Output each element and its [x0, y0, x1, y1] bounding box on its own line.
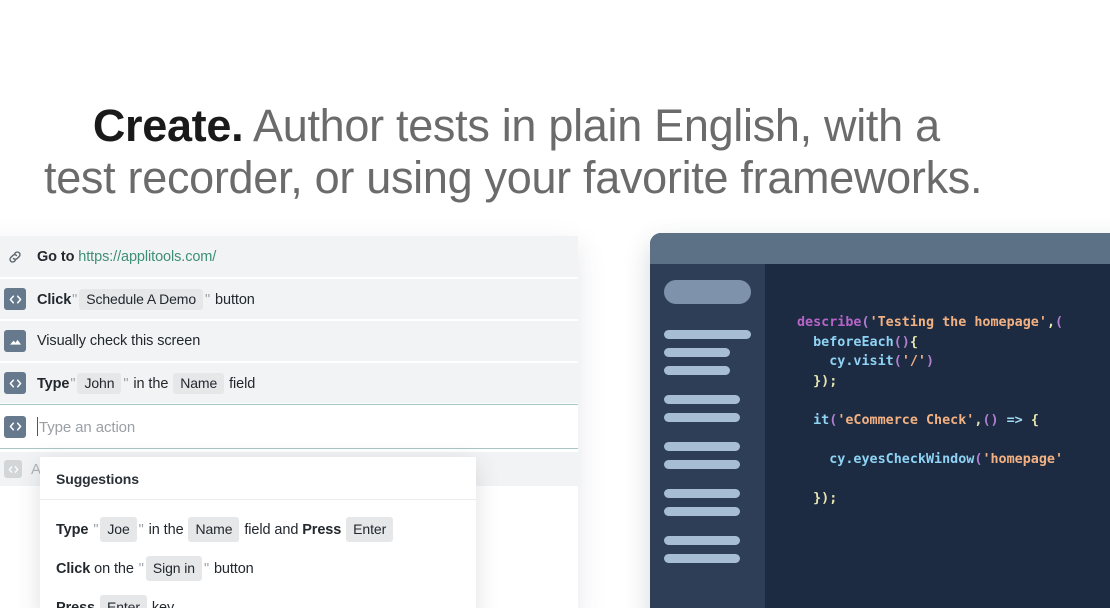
quote-open: " — [92, 522, 99, 538]
suggestion-verb: Type — [56, 522, 88, 538]
suggestion-key-chip: Enter — [100, 595, 147, 608]
code-editor-titlebar — [650, 233, 1110, 264]
sidebar-group — [664, 489, 751, 516]
action-text: Type"John" in the Name field — [37, 373, 255, 394]
suggestion-mid: in the — [149, 522, 184, 538]
quote-close: " — [138, 522, 145, 538]
suggestions-list: Type "Joe" in the Name field and Press E… — [40, 500, 476, 608]
page-root: Create. Author tests in plain English, w… — [0, 0, 1110, 608]
quote-open: " — [69, 376, 76, 392]
suggestion-mid2: field and — [244, 522, 298, 538]
sidebar-group — [664, 330, 751, 375]
sidebar-bar-placeholder — [664, 395, 740, 404]
code-editor-panel: describe('Testing the homepage',( before… — [650, 233, 1110, 608]
suggestion-item[interactable]: Press Enter key — [56, 588, 476, 608]
sidebar-pill-placeholder — [664, 280, 751, 304]
quote-open: " — [71, 292, 78, 308]
quote-close: " — [122, 376, 129, 392]
sidebar-bar-placeholder — [664, 366, 730, 375]
action-input[interactable]: Type an action — [37, 417, 135, 436]
action-text: Go to https://applitools.com/ — [37, 249, 216, 265]
page-title-lead: Create. — [93, 100, 243, 151]
sidebar-group — [664, 536, 751, 563]
action-label: Visually check this screen — [37, 333, 200, 349]
quote-close: " — [203, 561, 210, 577]
code-icon — [4, 416, 26, 438]
action-row[interactable]: Visually check this screen — [0, 320, 578, 362]
code-editor-text-area[interactable]: describe('Testing the homepage',( before… — [765, 264, 1110, 608]
suggestion-item[interactable]: Type "Joe" in the Name field and Press E… — [56, 510, 476, 549]
code-icon — [4, 460, 22, 478]
action-text: Click"Schedule A Demo" button — [37, 289, 255, 310]
action-suffix: field — [229, 376, 255, 392]
suggestions-title: Suggestions — [40, 457, 476, 500]
action-mid: in the — [133, 376, 168, 392]
sidebar-bar-placeholder — [664, 554, 740, 563]
sidebar-bar-placeholder — [664, 348, 730, 357]
action-verb: Type — [37, 376, 69, 392]
sidebar-bar-placeholder — [664, 489, 740, 498]
sidebar-bar-placeholder — [664, 536, 740, 545]
sidebar-bar-placeholder — [664, 442, 740, 451]
suggestion-verb: Click — [56, 561, 90, 577]
code-block: describe('Testing the homepage',( before… — [797, 313, 1110, 509]
sidebar-bar-placeholder — [664, 507, 740, 516]
page-title: Create. Author tests in plain English, w… — [44, 48, 1004, 256]
action-verb: Click — [37, 292, 71, 308]
suggestion-mid: on the — [94, 561, 134, 577]
suggestion-mid2: button — [214, 561, 254, 577]
link-icon — [4, 246, 26, 268]
suggestion-mid2: key — [152, 600, 174, 608]
action-suffix: button — [215, 292, 255, 308]
action-field-chip[interactable]: Name — [173, 373, 224, 394]
action-row[interactable]: Go to https://applitools.com/ — [0, 236, 578, 278]
image-icon — [4, 330, 26, 352]
suggestion-verb: Press — [56, 600, 95, 608]
action-input-row[interactable]: Type an action — [0, 404, 578, 449]
action-text: Visually check this screen — [37, 333, 200, 349]
code-icon — [4, 288, 26, 310]
code-editor-sidebar — [650, 264, 765, 608]
text-caret — [37, 417, 38, 436]
suggestions-popup: Suggestions Type "Joe" in the Name field… — [40, 457, 476, 608]
code-editor-body: describe('Testing the homepage',( before… — [650, 264, 1110, 608]
action-target-chip[interactable]: Schedule A Demo — [79, 289, 203, 310]
sidebar-bar-placeholder — [664, 460, 740, 469]
suggestion-target-chip: Sign in — [146, 556, 202, 581]
suggestion-key-chip: Enter — [346, 517, 393, 542]
sidebar-bar-placeholder — [664, 330, 751, 339]
sidebar-bar-placeholder — [664, 413, 740, 422]
suggestion-value-chip: Joe — [100, 517, 136, 542]
quote-open: " — [138, 561, 145, 577]
code-icon — [4, 372, 26, 394]
suggestion-field-chip: Name — [188, 517, 239, 542]
action-row[interactable]: Click"Schedule A Demo" button — [0, 278, 578, 320]
suggestion-verb2: Press — [302, 522, 341, 538]
action-value-chip[interactable]: John — [77, 373, 121, 394]
action-verb: Go to — [37, 249, 78, 265]
action-url: https://applitools.com/ — [78, 249, 216, 265]
action-input-placeholder: Type an action — [39, 419, 135, 436]
suggestion-item[interactable]: Click on the "Sign in" button — [56, 549, 476, 588]
sidebar-group — [664, 442, 751, 469]
action-row[interactable]: Type"John" in the Name field — [0, 362, 578, 404]
sidebar-group — [664, 395, 751, 422]
quote-close: " — [204, 292, 211, 308]
